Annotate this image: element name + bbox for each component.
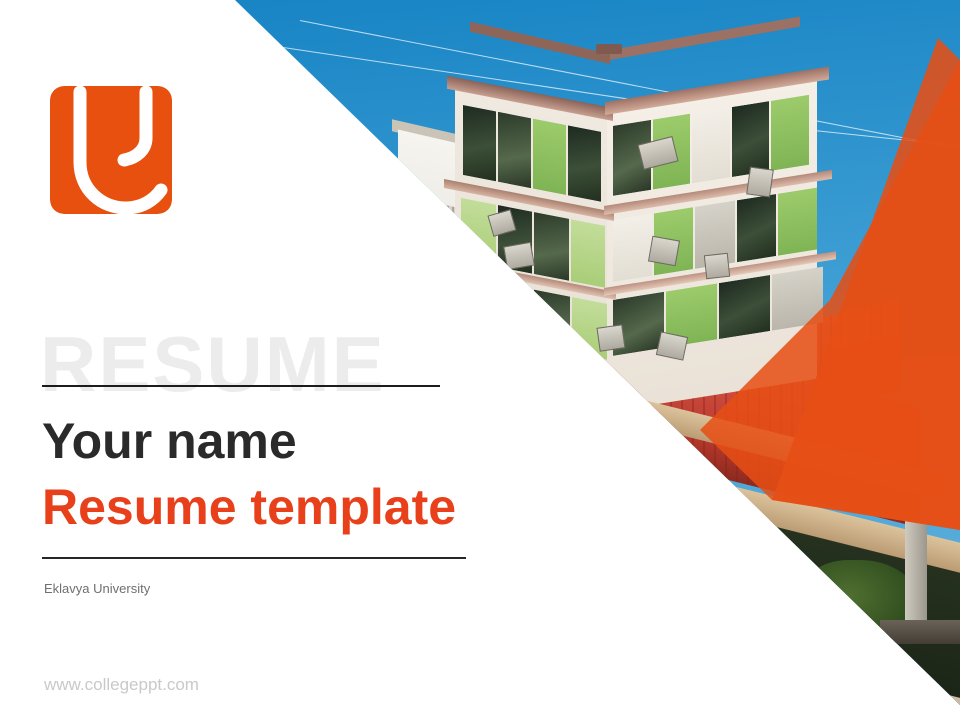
road-surface xyxy=(780,672,960,720)
slide-subtitle: Resume template xyxy=(42,478,456,537)
awning-window xyxy=(746,166,774,197)
resume-slide: RESUME Your name Resume template Eklavya… xyxy=(0,0,960,720)
awning-window xyxy=(503,242,535,270)
divider-bottom xyxy=(42,557,466,559)
resume-watermark: RESUME xyxy=(40,325,386,403)
divider-top xyxy=(42,385,440,387)
candidate-name: Your name xyxy=(42,412,297,471)
awning-window xyxy=(704,253,730,279)
roof-ridge-cap xyxy=(596,44,622,54)
awning-window xyxy=(596,324,625,351)
stone-wall xyxy=(880,620,960,644)
awning-window xyxy=(648,236,680,266)
university-logo-icon xyxy=(50,86,172,214)
organization-label: Eklavya University xyxy=(44,581,150,596)
footer-url: www.collegeppt.com xyxy=(44,675,199,695)
